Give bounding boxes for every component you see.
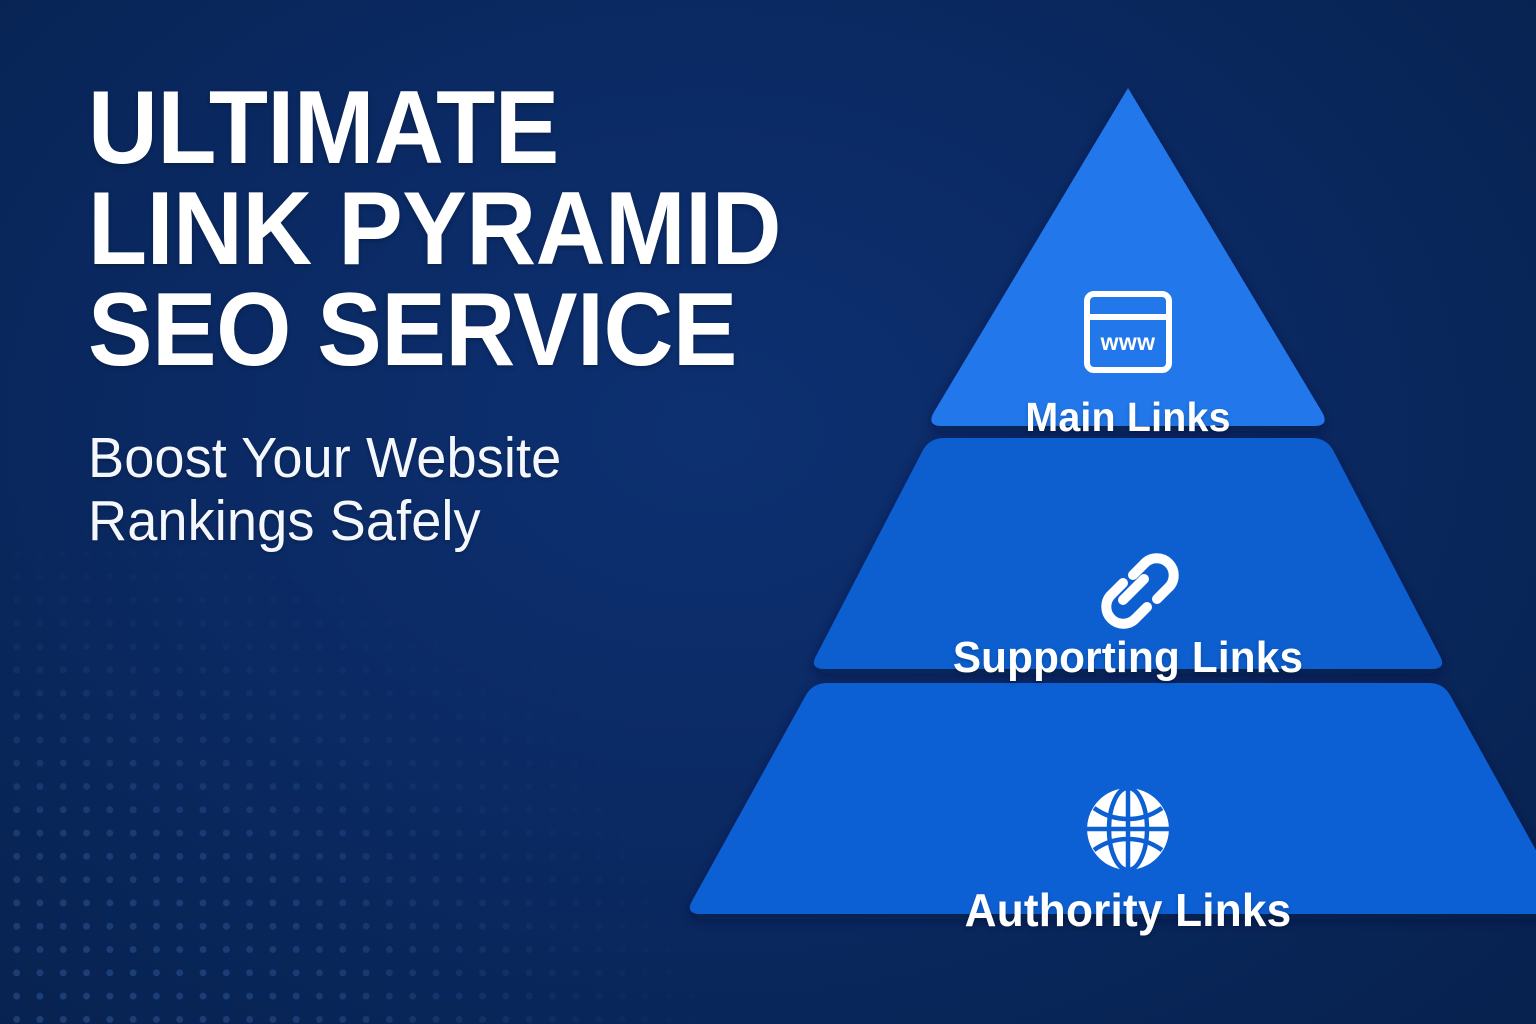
www-browser-window-icon: www [1080, 284, 1176, 380]
www-icon-label: www [1100, 329, 1156, 355]
pyramid-tier-label-authority: Authority Links [965, 883, 1292, 937]
globe-icon [1082, 783, 1174, 875]
pyramid-tier-label-supporting: Supporting Links [953, 633, 1303, 683]
poster-canvas: ULTIMATE LINK PYRAMID SEO SERVICE Boost … [0, 0, 1536, 1024]
link-pyramid-diagram: www [640, 70, 1536, 930]
pyramid-tier-label-main: Main Links [1025, 394, 1230, 441]
chain-link-icon [1082, 533, 1174, 625]
